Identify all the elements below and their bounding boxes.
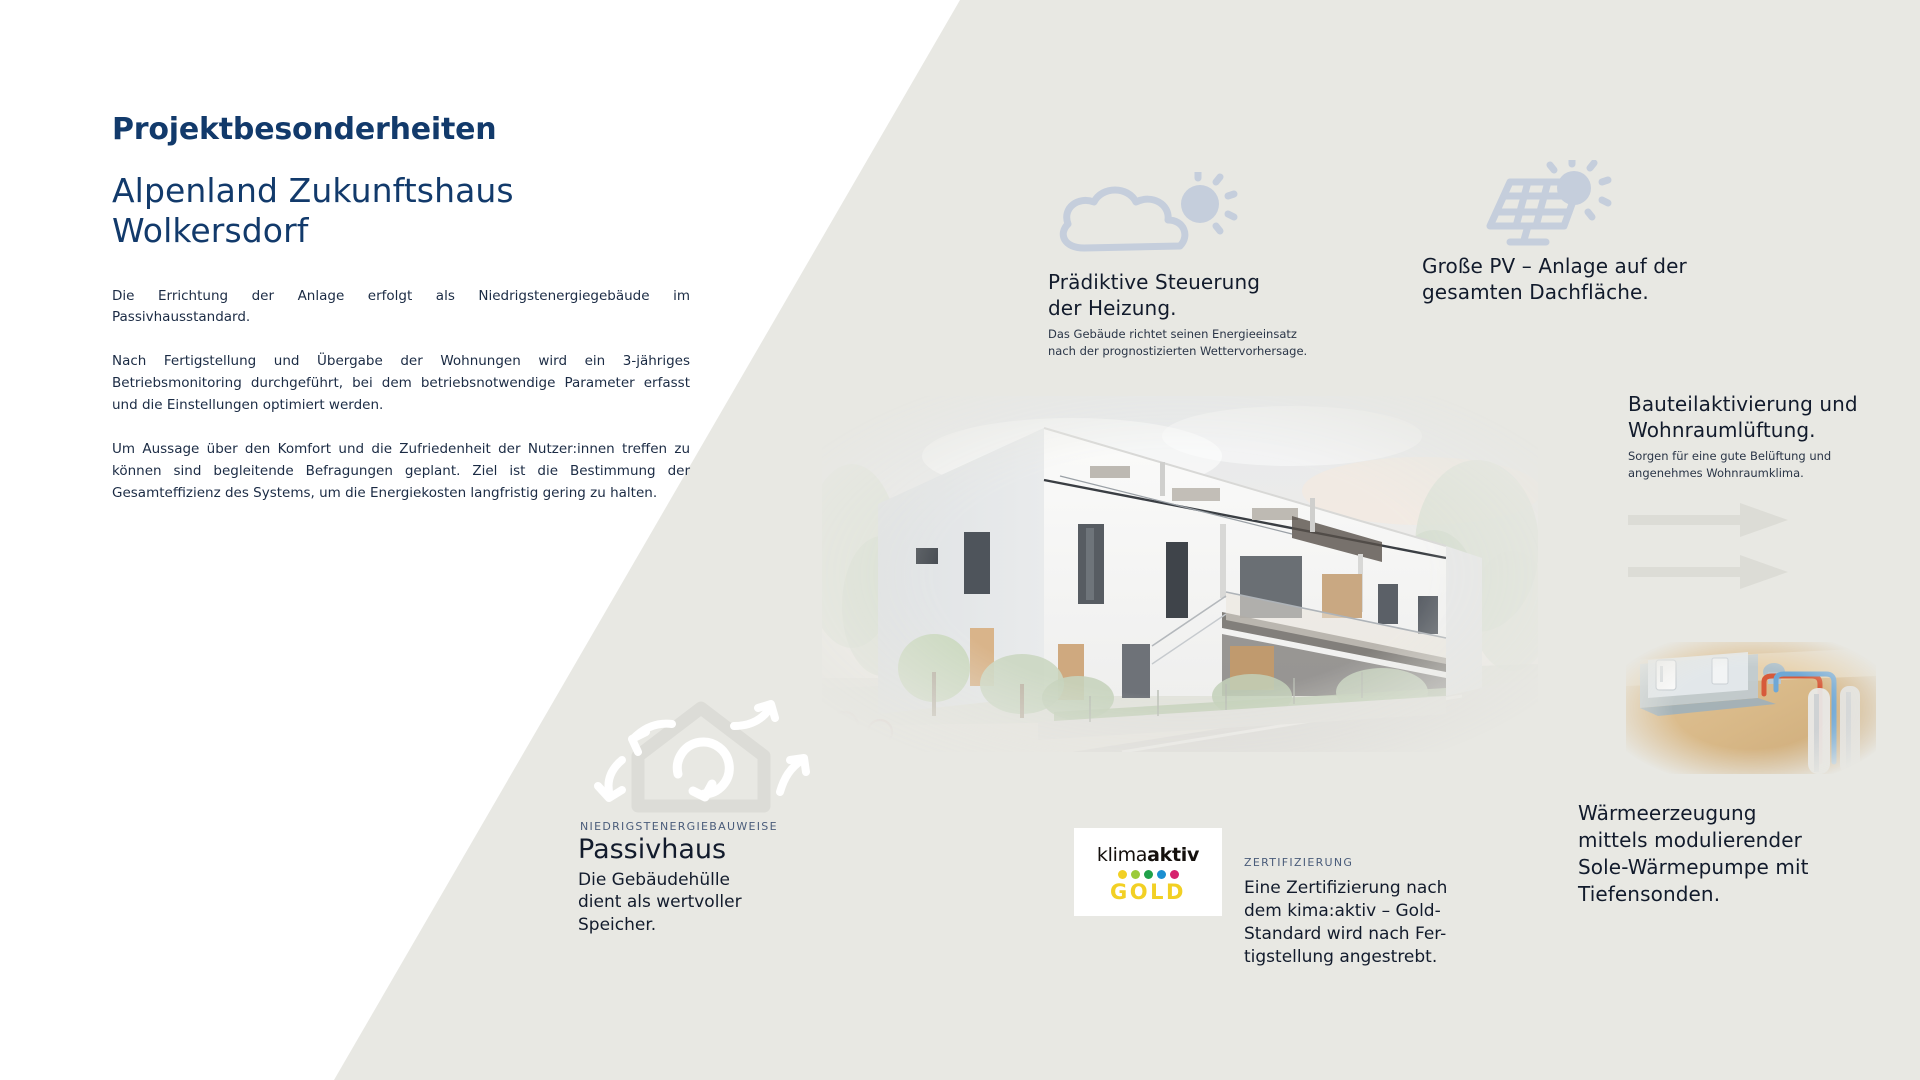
- certification-eyebrow: ZERTIFIZIERUNG: [1244, 856, 1494, 869]
- body-paragraph-3: Um Aussage über den Komfort und die Zufr…: [112, 439, 690, 505]
- body-paragraph-1: Die Errichtung der Anlage erfolgt als Ni…: [112, 286, 690, 330]
- page-title: Projektbesonderheiten: [112, 112, 712, 147]
- callout-klimaaktiv-certification: klimaaktiv GOLD ZERTIFIZIERUNG Eine Zert…: [1074, 828, 1494, 969]
- klima-dot-1: [1118, 870, 1127, 879]
- building-rendering: [822, 396, 1538, 752]
- klimaaktiv-dots: [1118, 870, 1179, 879]
- callout-pv-system: Große PV – Anlage auf der gesamten Dachf…: [1418, 160, 1718, 305]
- callout-vent-subtitle: Sorgen für eine gute Belüftung und angen…: [1628, 448, 1888, 481]
- klimaaktiv-gold-logo: klimaaktiv GOLD: [1074, 828, 1222, 916]
- callout-heat-pump: Wärmeerzeugung mittels modulierender Sol…: [1578, 642, 1878, 908]
- callout-vent-title: Bauteilaktivierung und Wohnraumlüftung.: [1628, 392, 1888, 443]
- klima-word-bold: aktiv: [1147, 844, 1199, 866]
- slide-root: Projektbesonderheiten Alpenland Zukunfts…: [0, 0, 1920, 1080]
- certification-description: Eine Zertifizierung nach dem kima:aktiv …: [1244, 877, 1494, 969]
- callout-passivhaus: NIEDRIGSTENERGIEBAUWEISE Passivhaus Die …: [578, 688, 828, 937]
- passivhaus-eyebrow: NIEDRIGSTENERGIEBAUWEISE: [580, 820, 828, 833]
- callout-heating-subtitle: Das Gebäude richtet seinen Energieeinsat…: [1048, 326, 1318, 359]
- house-circulation-arrows-icon: [586, 688, 828, 816]
- body-paragraph-2: Nach Fertigstellung und Übergabe der Woh…: [112, 351, 690, 417]
- solar-panel-sun-icon: [1418, 160, 1718, 248]
- callout-pv-title: Große PV – Anlage auf der gesamten Dachf…: [1418, 254, 1718, 305]
- klima-dot-4: [1157, 870, 1166, 879]
- passivhaus-subtitle: Die Gebäudehülle dient als wertvoller Sp…: [578, 869, 828, 937]
- geothermal-heat-pump-illustration: [1626, 642, 1876, 774]
- left-text-column: Projektbesonderheiten Alpenland Zukunfts…: [112, 112, 712, 504]
- klima-dot-3: [1144, 870, 1153, 879]
- callout-heating-title: Prädiktive Steuerung der Heizung.: [1048, 270, 1318, 321]
- callout-ventilation: Bauteilaktivierung und Wohnraumlüftung. …: [1628, 392, 1888, 589]
- passivhaus-heading: Passivhaus: [578, 835, 828, 865]
- callout-heatpump-title: Wärmeerzeugung mittels modulierender Sol…: [1578, 800, 1878, 908]
- project-name: Alpenland Zukunftshaus Wolkersdorf: [112, 171, 712, 252]
- cloud-sun-icon: [1048, 172, 1318, 262]
- klima-dot-5: [1170, 870, 1179, 879]
- klima-dot-2: [1131, 870, 1140, 879]
- klimaaktiv-text: ZERTIFIZIERUNG Eine Zertifizierung nach …: [1244, 828, 1494, 969]
- klimaaktiv-wordmark: klimaaktiv: [1097, 846, 1199, 865]
- klimaaktiv-level-gold: GOLD: [1110, 882, 1186, 903]
- airflow-arrows-icon: [1628, 503, 1888, 589]
- klima-word-light: klima: [1097, 844, 1147, 866]
- callout-predictive-heating: Prädiktive Steuerung der Heizung. Das Ge…: [1048, 172, 1318, 359]
